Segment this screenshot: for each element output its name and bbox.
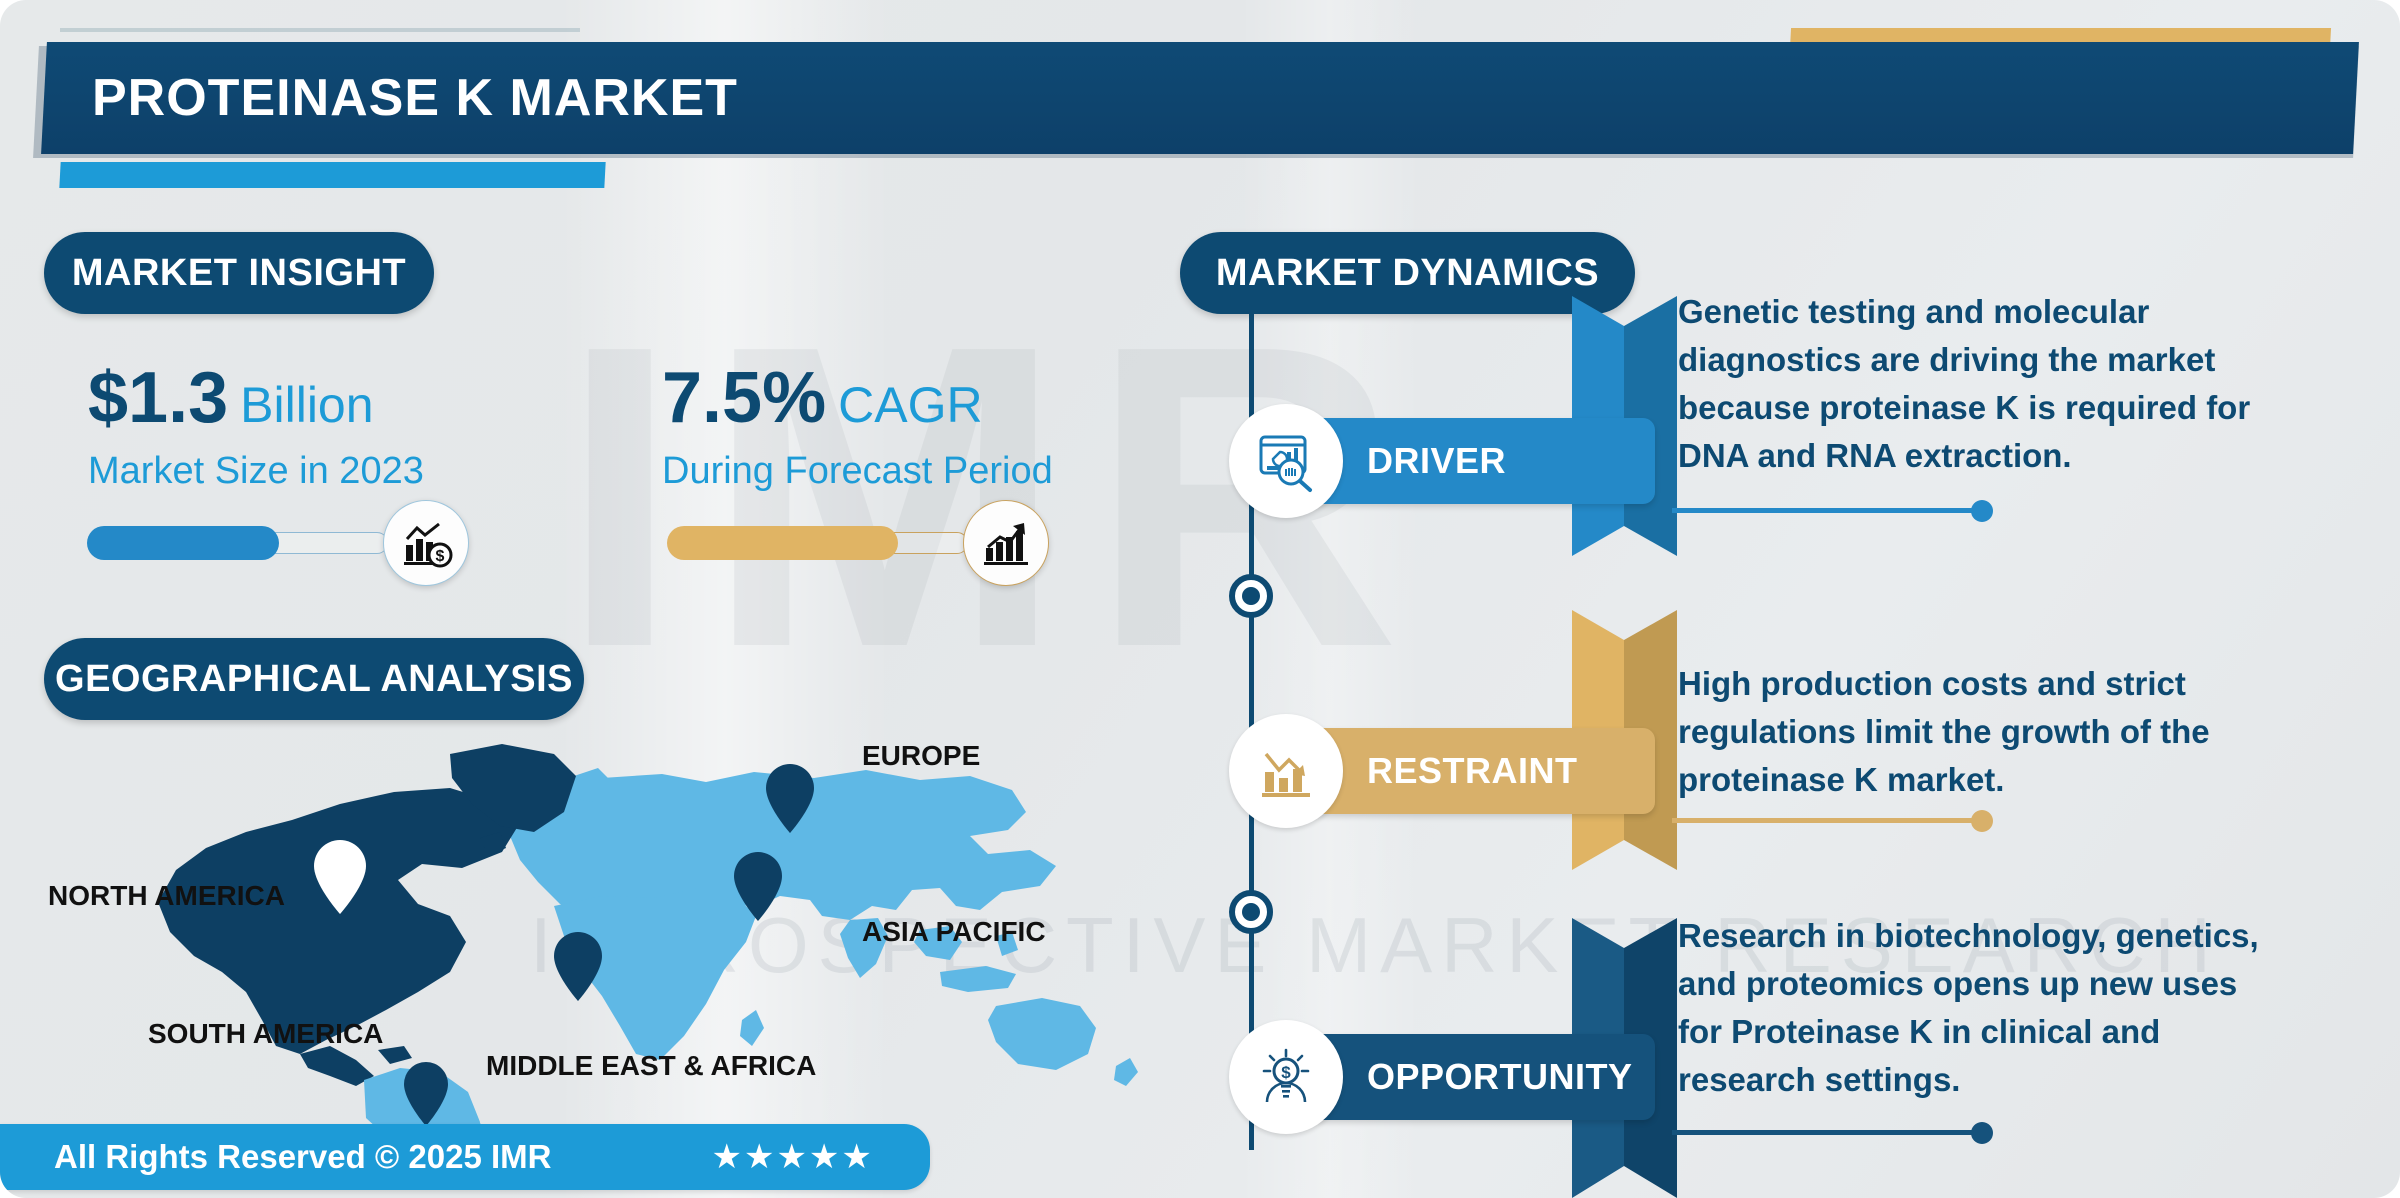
dashboard-magnifier-icon	[1229, 404, 1343, 518]
timeline-node-2	[1229, 890, 1273, 934]
rating-stars: ★★★★★	[711, 1137, 873, 1177]
kpi-market-size-progress-track	[88, 532, 388, 554]
opportunity-label: OPPORTUNITY	[1367, 1056, 1633, 1098]
infographic-canvas: IMR INTROSPECTIVE MARKET RESEARCH PROTEI…	[0, 0, 2400, 1198]
kpi-market-size-caption: Market Size in 2023	[88, 450, 424, 493]
timeline-node-1	[1229, 574, 1273, 618]
kpi-cagr-unit: CAGR	[838, 377, 982, 433]
map-label-asia-pacific: ASIA PACIFIC	[862, 916, 1046, 948]
map-label-north-america: NORTH AMERICA	[48, 880, 285, 912]
map-region-madagascar	[740, 1010, 764, 1046]
svg-text:$: $	[436, 548, 445, 565]
kpi-cagr: 7.5%CAGR During Forecast Period	[662, 362, 1053, 493]
map-label-europe: EUROPE	[862, 740, 980, 772]
map-region-central-america	[300, 1046, 374, 1086]
kpi-market-size-progress-fill	[87, 526, 279, 560]
svg-text:$: $	[1281, 1063, 1291, 1082]
header-hairline	[60, 28, 580, 32]
map-region-north-america	[158, 788, 518, 1054]
kpi-market-size: $1.3Billion Market Size in 2023	[88, 362, 424, 493]
bar-chart-dollar-icon: $	[383, 500, 469, 586]
section-pill-geographical-analysis: GEOGRAPHICAL ANALYSIS	[44, 638, 584, 720]
opportunity-description: Research in biotechnology, genetics, and…	[1678, 912, 2278, 1103]
kpi-cagr-caption: During Forecast Period	[662, 450, 1053, 493]
driver-badge: DRIVER	[1255, 418, 1655, 504]
kpi-market-size-unit: Billion	[240, 377, 373, 433]
header-bar: PROTEINASE K MARKET	[41, 42, 2359, 154]
map-region-australia	[988, 998, 1096, 1070]
footer-copyright: All Rights Reserved © 2025 IMR	[54, 1138, 551, 1176]
driver-description: Genetic testing and molecular diagnostic…	[1678, 288, 2278, 479]
map-label-middle-east-africa: MIDDLE EAST & AFRICA	[486, 1050, 816, 1082]
opportunity-leader-line	[1672, 1130, 1982, 1135]
driver-leader-line	[1672, 508, 1982, 513]
footer-bar: All Rights Reserved © 2025 IMR ★★★★★	[0, 1124, 930, 1190]
header-blue-underbar	[59, 162, 605, 188]
map-label-south-america: SOUTH AMERICA	[148, 1018, 383, 1050]
opportunity-badge: $ OPPORTUNITY	[1255, 1034, 1655, 1120]
driver-label: DRIVER	[1367, 440, 1506, 482]
declining-bar-chart-icon	[1229, 714, 1343, 828]
kpi-cagr-progress-fill	[667, 526, 898, 560]
section-pill-market-insight: MARKET INSIGHT	[44, 232, 434, 314]
map-region-new-zealand	[1114, 1058, 1138, 1086]
growth-arrow-chart-icon	[963, 500, 1049, 586]
kpi-cagr-progress-track	[668, 532, 968, 554]
section-pill-market-dynamics: MARKET DYNAMICS	[1180, 232, 1635, 314]
restraint-label: RESTRAINT	[1367, 750, 1578, 792]
kpi-market-size-value: $1.3	[88, 358, 228, 438]
restraint-badge: RESTRAINT	[1255, 728, 1655, 814]
restraint-leader-line	[1672, 818, 1982, 823]
lightbulb-dollar-icon: $	[1229, 1020, 1343, 1134]
restraint-description: High production costs and strict regulat…	[1678, 660, 2288, 804]
kpi-cagr-value: 7.5%	[662, 358, 826, 438]
map-pin-middle-east-africa	[554, 932, 602, 1001]
page-title: PROTEINASE K MARKET	[92, 68, 738, 128]
map-region-indonesia	[940, 966, 1016, 992]
